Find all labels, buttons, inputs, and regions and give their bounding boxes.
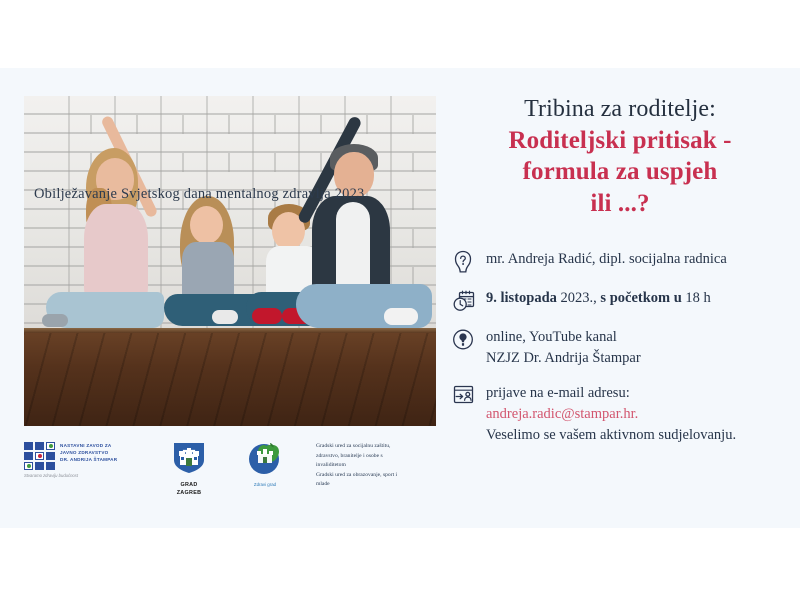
signup-closing: Veselimo se vašem aktivnom sudjelovanju.: [486, 425, 736, 446]
zdravi-grad-apple-icon: [246, 440, 284, 476]
date-time: 18 h: [682, 290, 711, 306]
mother-body: [84, 204, 148, 306]
date-year: 2023.,: [557, 290, 601, 306]
partner-line-1: Gradski ured za socijalnu zaštitu,: [316, 442, 481, 452]
event-details-list: mr. Andreja Radić, dipl. socijalna radni…: [452, 249, 788, 446]
partner-line-4: Gradski ured za obrazovanje, sport i: [316, 471, 481, 481]
zagreb-label: GRAD ZAGREB: [172, 481, 206, 497]
nzjz-line-2: JAVNO ZDRAVSTVO: [60, 449, 117, 456]
signup-email-link[interactable]: andreja.radic@stampar.hr.: [486, 404, 736, 425]
calendar-clock-icon: [452, 288, 486, 313]
nzjz-line-3: DR. ANDRIJA ŠTAMPAR: [60, 456, 117, 463]
nzjz-name: NASTAVNI ZAVOD ZA JAVNO ZDRAVSTVO DR. AN…: [60, 442, 117, 463]
logo-nzjz: NASTAVNI ZAVOD ZA JAVNO ZDRAVSTVO DR. AN…: [24, 442, 117, 478]
partner-line-2: zdravstvo, branitelje i osobe s: [316, 452, 481, 462]
father-shoe: [384, 308, 418, 325]
poster-title-line-1: Tribina za roditelje:: [452, 96, 788, 123]
detail-row-signup: prijave na e-mail adresu: andreja.radic@…: [452, 383, 788, 446]
partner-line-3: invaliditetom: [316, 461, 481, 471]
detail-row-speaker: mr. Andreja Radić, dipl. socijalna radni…: [452, 249, 788, 274]
zdravi-grad-label: Zdravi grad: [246, 482, 284, 487]
date-day-month: 9. listopada: [486, 290, 557, 306]
girl-shoe: [212, 310, 238, 324]
location-line-1: online, YouTube kanal: [486, 327, 641, 348]
speaker-name: mr. Andreja Radić, dipl. socijalna radni…: [486, 249, 727, 270]
partner-offices-text: Gradski ured za socijalnu zaštitu, zdrav…: [316, 442, 481, 490]
nzjz-slogan: Stvaramo zdraviju budućnost: [24, 473, 117, 478]
poster-title-line-3: formula za uspjeh: [452, 156, 788, 187]
date-start-label: s početkom u: [600, 290, 681, 306]
detail-row-date: 9. listopada 2023., s početkom u 18 h: [452, 288, 788, 313]
zagreb-line-2: ZAGREB: [172, 489, 206, 497]
mother-foot: [42, 314, 68, 327]
detail-row-location: online, YouTube kanal NZJZ Dr. Andrija Š…: [452, 327, 788, 369]
location-line-2: NZJZ Dr. Andrija Štampar: [486, 348, 641, 369]
poster-title-line-4: ili ...?: [452, 188, 788, 219]
signup-text: prijave na e-mail adresu: andreja.radic@…: [486, 383, 736, 446]
event-date: 9. listopada 2023., s početkom u 18 h: [486, 288, 711, 309]
signup-instruction: prijave na e-mail adresu:: [486, 383, 736, 404]
family-photo: [24, 96, 436, 426]
logo-zdravi-grad: Zdravi grad: [246, 440, 284, 487]
girl-head: [190, 206, 223, 244]
location-pin-icon: [452, 327, 486, 352]
location-text: online, YouTube kanal NZJZ Dr. Andrija Š…: [486, 327, 641, 369]
nzjz-logo-mark: [24, 442, 55, 470]
poster-canvas: Obilježavanje Svjetskog dana mentalnog z…: [0, 68, 800, 528]
add-person-icon: [452, 383, 486, 406]
poster-title-line-2: Roditeljski pritisak -: [452, 125, 788, 156]
footer-logos: NASTAVNI ZAVOD ZA JAVNO ZDRAVSTVO DR. AN…: [24, 438, 474, 508]
poster-text-column: Tribina za roditelje: Roditeljski pritis…: [452, 96, 788, 460]
boy-shoe-left: [252, 308, 282, 324]
nzjz-line-1: NASTAVNI ZAVOD ZA: [60, 442, 117, 449]
speaker-person-icon: [452, 249, 486, 274]
partner-line-5: mlade: [316, 480, 481, 490]
zagreb-coat-of-arms-icon: [172, 442, 206, 474]
zagreb-line-1: GRAD: [172, 481, 206, 489]
logo-grad-zagreb: GRAD ZAGREB: [172, 442, 206, 497]
photo-caption: Obilježavanje Svjetskog dana mentalnog z…: [24, 186, 446, 203]
wooden-floor: [24, 328, 436, 426]
